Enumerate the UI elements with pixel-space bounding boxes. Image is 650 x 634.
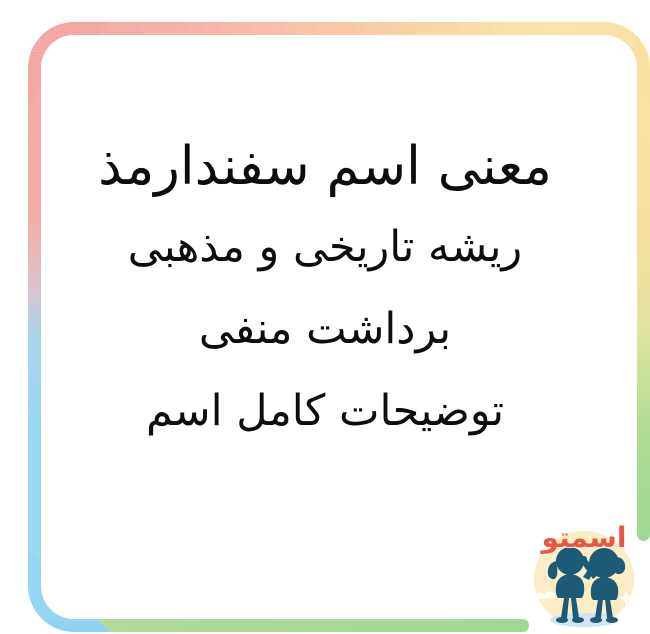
headline-block: معنی اسم سفندارمذ ریشه تاریخی و مذهبی بر… xyxy=(40,128,610,452)
frame-bottom-edge xyxy=(69,619,529,632)
headline-line-2: ریشه تاریخی و مذهبی xyxy=(40,206,610,288)
headline-line-3: برداشت منفی xyxy=(40,288,610,370)
frame-right-edge xyxy=(637,63,650,541)
headline-line-4: توضیحات کامل اسم xyxy=(40,370,610,452)
frame-top-edge xyxy=(69,22,599,35)
name-card-canvas: معنی اسم سفندارمذ ریشه تاریخی و مذهبی بر… xyxy=(0,0,650,634)
logo-wordmark: اسمتو xyxy=(528,523,640,553)
frame-corner-bottom-left xyxy=(28,550,110,632)
frame-corner-top-left xyxy=(28,22,110,104)
frame-corner-top-right xyxy=(568,22,650,104)
headline-line-1: معنی اسم سفندارمذ xyxy=(40,128,610,206)
brand-logo[interactable]: اسمتو xyxy=(528,521,640,631)
